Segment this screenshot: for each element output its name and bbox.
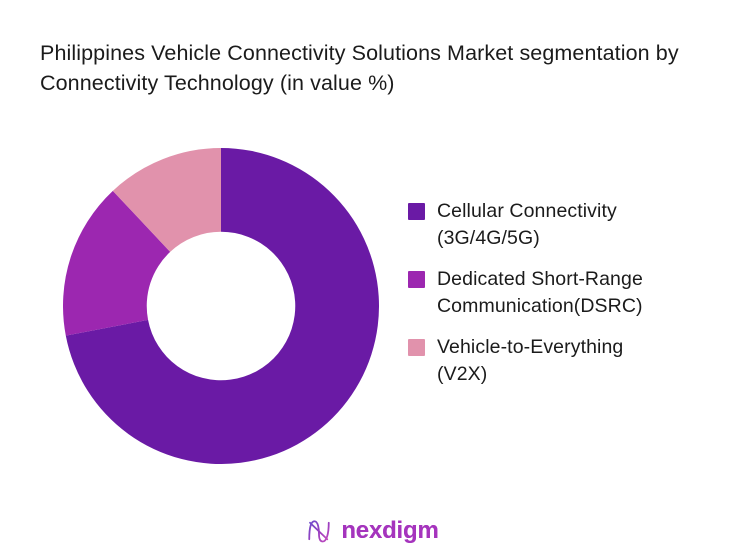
legend-label-cellular-connectivity: Cellular Connectivity (3G/4G/5G) [437,198,617,252]
chart-legend: Cellular Connectivity (3G/4G/5G) Dedicat… [408,198,718,402]
legend-item-cellular-connectivity[interactable]: Cellular Connectivity (3G/4G/5G) [408,198,718,252]
donut-slice-group [63,148,379,464]
donut-chart-svg [63,148,379,464]
legend-label-v2x: Vehicle-to-Everything (V2X) [437,334,623,388]
legend-label-dsrc: Dedicated Short-Range Communication(DSRC… [437,266,643,320]
donut-chart [63,148,379,464]
legend-item-v2x[interactable]: Vehicle-to-Everything (V2X) [408,334,718,388]
legend-item-dsrc[interactable]: Dedicated Short-Range Communication(DSRC… [408,266,718,320]
page-title: Philippines Vehicle Connectivity Solutio… [40,38,710,98]
legend-swatch-v2x [408,339,425,356]
legend-swatch-dsrc [408,271,425,288]
nexdigm-logo-icon [304,516,334,546]
brand-name: nexdigm [341,518,438,544]
legend-swatch-cellular-connectivity [408,203,425,220]
chart-page: Philippines Vehicle Connectivity Solutio… [0,0,743,557]
brand-footer: nexdigm [0,516,743,546]
